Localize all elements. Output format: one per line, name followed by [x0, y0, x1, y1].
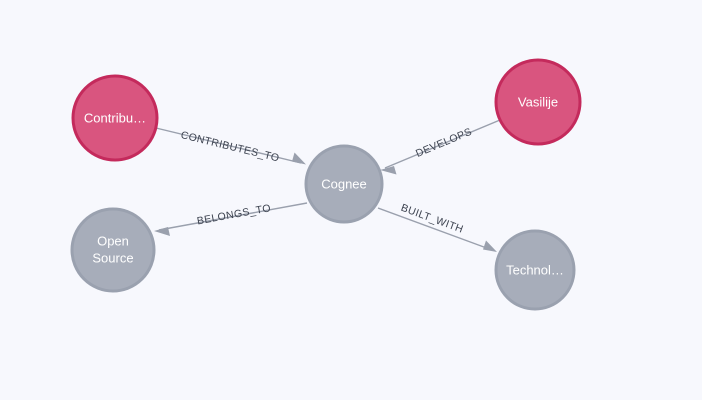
edge-contributes-to[interactable]: CONTRIBUTES_TO — [156, 128, 306, 165]
arrowhead-built-with — [483, 241, 497, 253]
node-cognee[interactable]: Cognee — [306, 146, 382, 222]
edge-develops[interactable]: DEVELOPS — [380, 120, 500, 175]
node-circle-technology[interactable] — [496, 231, 574, 309]
knowledge-graph[interactable]: CONTRIBUTES_TO DEVELOPS BELONGS_TO BUILT… — [0, 0, 702, 400]
node-circle-contributor[interactable] — [73, 76, 157, 160]
edge-built-with[interactable]: BUILT_WITH — [378, 202, 497, 252]
edge-label-contributes-to: CONTRIBUTES_TO — [180, 129, 281, 164]
arrowhead-belongs-to — [154, 227, 170, 236]
nodes-layer: Contribu… Vasilije Cognee Open Source Te… — [72, 60, 580, 309]
node-contributor[interactable]: Contribu… — [73, 76, 157, 160]
edge-label-belongs-to: BELONGS_TO — [196, 202, 272, 227]
arrowhead-contributes-to — [292, 153, 306, 165]
node-circle-cognee[interactable] — [306, 146, 382, 222]
node-circle-vasilije[interactable] — [496, 60, 580, 144]
edge-label-develops: DEVELOPS — [414, 126, 474, 160]
node-open-source[interactable]: Open Source — [72, 209, 154, 291]
node-circle-open-source[interactable] — [72, 209, 154, 291]
node-vasilije[interactable]: Vasilije — [496, 60, 580, 144]
edge-belongs-to[interactable]: BELONGS_TO — [154, 202, 307, 236]
node-technology[interactable]: Technol… — [496, 231, 574, 309]
graph-canvas[interactable]: CONTRIBUTES_TO DEVELOPS BELONGS_TO BUILT… — [0, 0, 702, 400]
